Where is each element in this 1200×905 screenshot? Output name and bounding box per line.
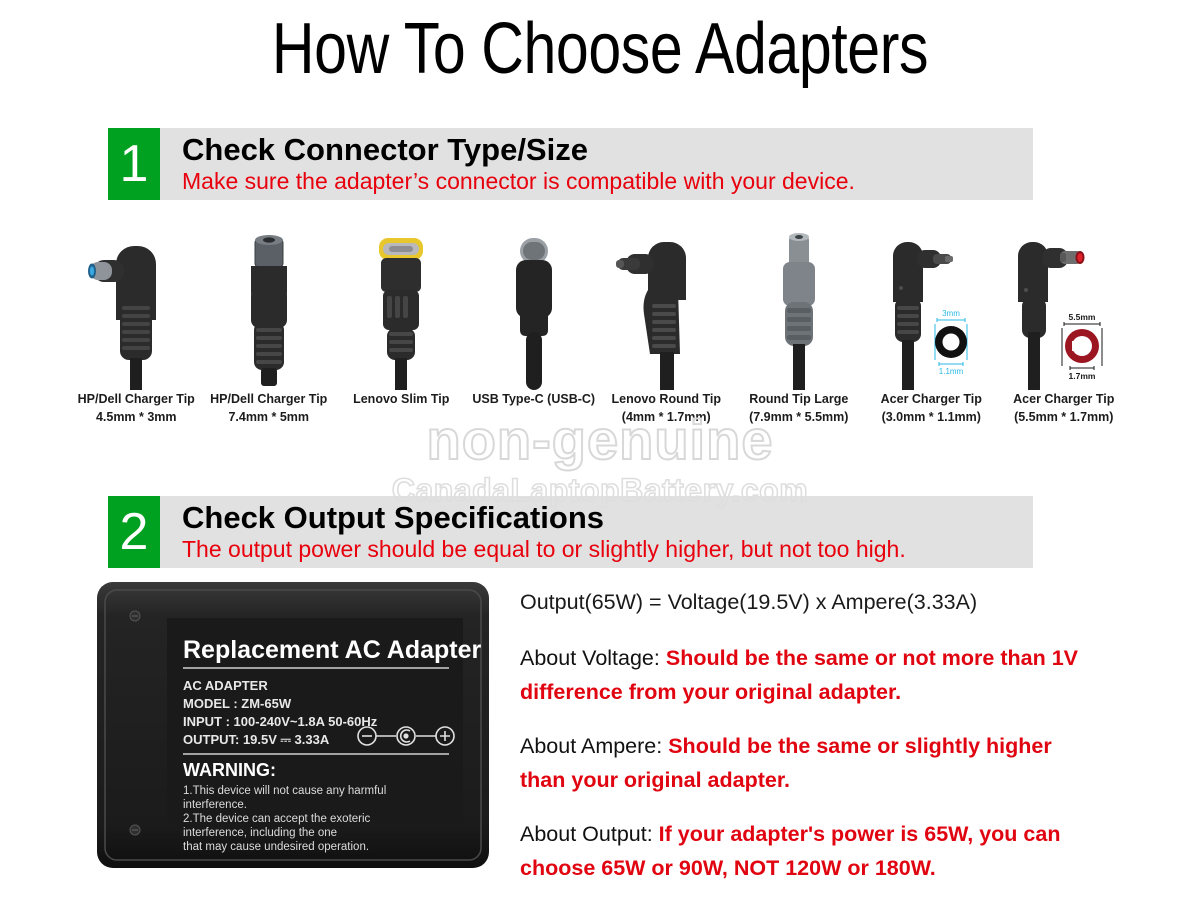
- connector-round-tip-large-icon: [733, 232, 866, 390]
- connector-size: (5.5mm * 1.7mm): [1014, 408, 1113, 426]
- connector-name: USB Type-C (USB-C): [472, 390, 595, 408]
- adapter-warning-heading: WARNING:: [183, 760, 276, 780]
- spec-about-output: About Output: If your adapter's power is…: [520, 817, 1090, 885]
- adapter-warning-line: 2.The device can accept the exoteric: [183, 813, 371, 825]
- connector-name: Lenovo Slim Tip: [353, 390, 449, 408]
- section-banner-2: 2 Check Output Specifications The output…: [108, 496, 1033, 568]
- connector-item[interactable]: USB Type-C (USB-C): [468, 232, 601, 442]
- ac-adapter-illustration: Replacement AC Adapter AC ADAPTER MODEL …: [95, 578, 495, 878]
- adapter-model: MODEL : ZM-65W: [183, 696, 292, 711]
- connector-name: Acer Charger Tip: [881, 390, 982, 408]
- adapter-warning-line: interference, including the one: [183, 827, 337, 839]
- output-equation: Output(65W) = Voltage(19.5V) x Ampere(3.…: [520, 585, 1090, 619]
- adapter-warning-line: that may cause undesired operation.: [183, 841, 369, 853]
- adapter-output: OUTPUT: 19.5V ⎓ 3.33A: [183, 732, 330, 747]
- connector-item[interactable]: Lenovo Slim Tip: [335, 232, 468, 442]
- connector-size: (3.0mm * 1.1mm): [882, 408, 981, 426]
- adapter-warning-line: 1.This device will not cause any harmful: [183, 785, 386, 797]
- connector-item[interactable]: HP/Dell Charger Tip 7.4mm * 5mm: [203, 232, 336, 442]
- adapter-warning-line: interference.: [183, 799, 247, 811]
- connector-acer-3mm-icon: 3mm 1.1mm: [865, 232, 998, 390]
- section-banner-text-2: Check Output Specifications The output p…: [160, 496, 906, 568]
- spec-about-ampere: About Ampere: Should be the same or slig…: [520, 729, 1090, 797]
- section-number-badge-1: 1: [108, 128, 160, 200]
- connector-lenovo-slim-yellow-icon: [335, 232, 468, 390]
- connector-name: Round Tip Large: [749, 390, 848, 408]
- output-specifications-text: Output(65W) = Voltage(19.5V) x Ampere(3.…: [520, 585, 1090, 905]
- spec-label: About Ampere:: [520, 734, 662, 758]
- connector-name: Acer Charger Tip: [1013, 390, 1114, 408]
- connector-name: HP/Dell Charger Tip: [78, 390, 195, 408]
- connector-item[interactable]: 3mm 1.1mm Acer Charger Tip (3.0mm * 1.1m…: [865, 232, 998, 442]
- section-banner-text-1: Check Connector Type/Size Make sure the …: [160, 128, 855, 200]
- section-number-badge-2: 2: [108, 496, 160, 568]
- spec-label: About Voltage:: [520, 646, 660, 670]
- acer-small-outer-dimension: 3mm: [942, 309, 960, 318]
- section-title-1: Check Connector Type/Size: [182, 133, 855, 167]
- adapter-type: AC ADAPTER: [183, 678, 268, 693]
- connector-hp-dell-barrel-icon: [203, 232, 336, 390]
- acer-large-inner-dimension: 1.7mm: [1068, 371, 1095, 381]
- section-subtitle-2: The output power should be equal to or s…: [182, 535, 906, 563]
- acer-small-inner-dimension: 1.1mm: [939, 367, 964, 376]
- connector-hp-dell-blue-tip-icon: [70, 232, 203, 390]
- connector-size: (7.9mm * 5.5mm): [749, 408, 848, 426]
- connector-size: 7.4mm * 5mm: [228, 408, 309, 426]
- connector-item[interactable]: 5.5mm 1.7mm Acer Charger Tip (5.5mm * 1.…: [998, 232, 1131, 442]
- acer-large-outer-dimension: 5.5mm: [1068, 312, 1095, 322]
- connector-lenovo-round-icon: [600, 232, 733, 390]
- section-subtitle-1: Make sure the adapter’s connector is com…: [182, 167, 855, 195]
- connector-acer-55mm-icon: 5.5mm 1.7mm: [998, 232, 1131, 390]
- connector-usb-type-c-icon: [468, 232, 601, 390]
- section-title-2: Check Output Specifications: [182, 501, 906, 535]
- adapter-input: INPUT : 100-240V~1.8A 50-60Hz: [183, 714, 378, 729]
- section-banner-1: 1 Check Connector Type/Size Make sure th…: [108, 128, 1033, 200]
- connector-item[interactable]: Round Tip Large (7.9mm * 5.5mm): [733, 232, 866, 442]
- connector-name: Lenovo Round Tip: [612, 390, 721, 408]
- connector-size: 4.5mm * 3mm: [96, 408, 177, 426]
- connector-name: HP/Dell Charger Tip: [210, 390, 327, 408]
- adapter-brand-title: Replacement AC Adapter: [183, 636, 481, 664]
- spec-about-voltage: About Voltage: Should be the same or not…: [520, 641, 1090, 709]
- connector-item[interactable]: HP/Dell Charger Tip 4.5mm * 3mm: [70, 232, 203, 442]
- spec-label: About Output:: [520, 822, 653, 846]
- connector-gallery: HP/Dell Charger Tip 4.5mm * 3mm: [70, 232, 1130, 442]
- page-title: How To Choose Adapters: [108, 8, 1092, 90]
- connector-item[interactable]: Lenovo Round Tip (4mm * 1.7mm): [600, 232, 733, 442]
- connector-size: (4mm * 1.7mm): [622, 408, 711, 426]
